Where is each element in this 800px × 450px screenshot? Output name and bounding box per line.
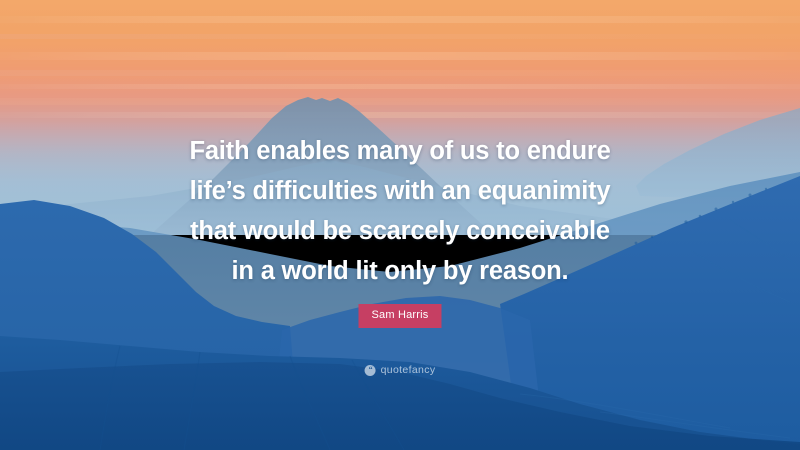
quote-line-3: that would be scarcely conceivable	[60, 211, 740, 251]
quote-poster: Faith enables many of us to endure life’…	[0, 0, 800, 450]
quote-line-1: Faith enables many of us to endure	[60, 131, 740, 171]
quote-text: Faith enables many of us to endure life’…	[0, 131, 800, 291]
quote-line-4: in a world lit only by reason.	[60, 251, 740, 291]
quote-line-2: life’s difficulties with an equanimity	[60, 171, 740, 211]
author-attribution-badge[interactable]: Sam Harris	[358, 304, 441, 328]
quote-mark-icon: “	[365, 365, 376, 376]
quotefancy-watermark[interactable]: “ quotefancy	[365, 365, 436, 376]
poster-content: Faith enables many of us to endure life’…	[0, 0, 800, 450]
brand-name: quotefancy	[381, 365, 436, 376]
author-name: Sam Harris	[371, 309, 428, 321]
